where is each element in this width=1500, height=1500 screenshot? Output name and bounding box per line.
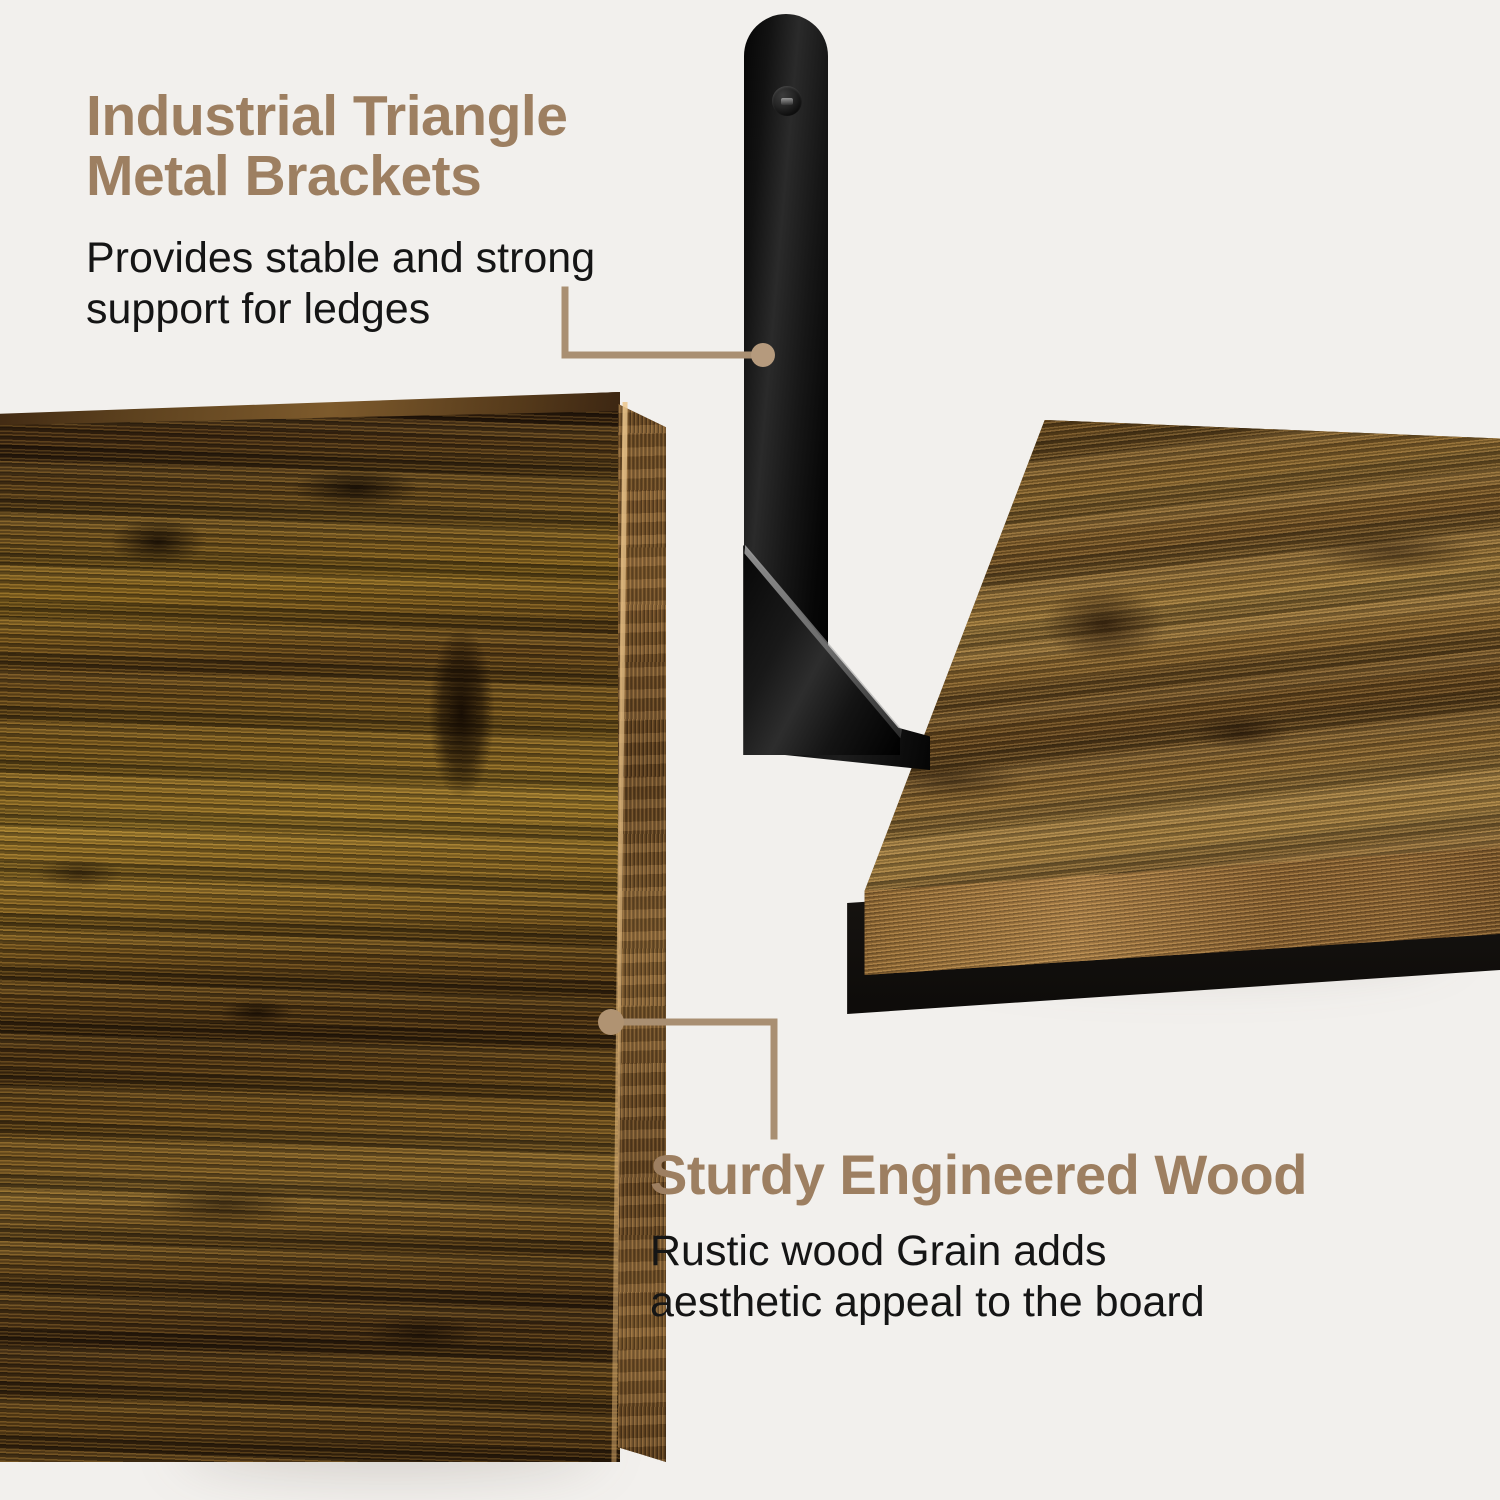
rustic-wood-shelf-angled: [800, 420, 1500, 1020]
board-left-face: [0, 392, 620, 1462]
infographic-canvas: Industrial Triangle Metal Brackets Provi…: [0, 0, 1500, 1500]
callout-wood-subtitle: Rustic wood Grain adds aesthetic appeal …: [650, 1226, 1480, 1327]
leader-path-wood: [612, 1022, 774, 1136]
callout-wood: Sturdy Engineered Wood Rustic wood Grain…: [650, 1145, 1480, 1328]
leader-line-wood: [596, 1006, 806, 1156]
leader-path-bracket: [565, 290, 760, 355]
leader-dot-wood: [598, 1009, 624, 1035]
leader-dot-bracket: [751, 343, 775, 367]
rustic-wood-board-upright: [0, 392, 620, 1462]
leader-line-bracket: [560, 285, 790, 385]
callout-brackets-title: Industrial Triangle Metal Brackets: [86, 86, 786, 207]
